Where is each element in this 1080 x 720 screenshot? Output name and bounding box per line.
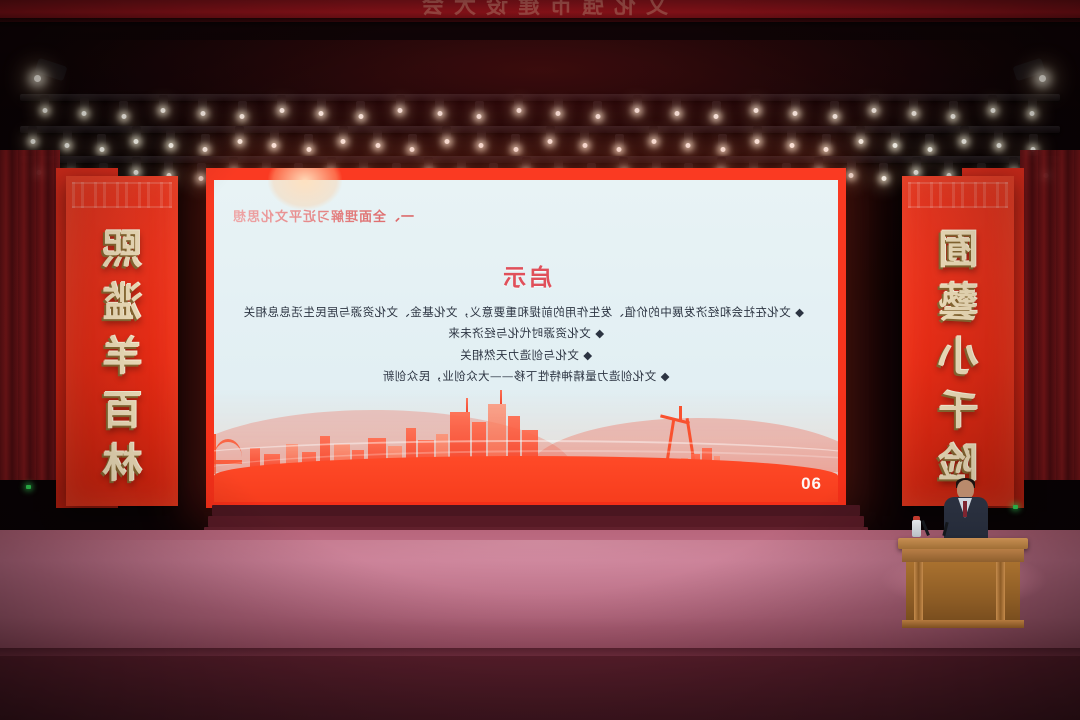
scroll-characters-left: 熙滥羊百林 bbox=[66, 216, 178, 498]
led-screen[interactable]: 一、全面理解习近平文化思想 启示 ◆ 文化在社会和经济发展中的价值、发生作用的前… bbox=[206, 168, 846, 508]
stage-light bbox=[270, 130, 279, 146]
stage-light-bulb-icon bbox=[279, 108, 284, 113]
stage-light bbox=[28, 126, 37, 142]
podium-trim-band bbox=[902, 549, 1024, 562]
stage-light bbox=[891, 130, 900, 146]
scroll-character: 小 bbox=[938, 337, 978, 377]
stage-light bbox=[317, 98, 326, 114]
stage-light bbox=[988, 95, 997, 111]
stage-light bbox=[63, 130, 72, 146]
scroll-fret-pattern bbox=[72, 182, 172, 208]
stage-light-bulb-icon bbox=[755, 139, 760, 144]
stage-light-bulb-icon bbox=[548, 139, 553, 144]
stage-light bbox=[166, 130, 175, 146]
scroll-character: 熙 bbox=[102, 230, 142, 270]
scroll-character: 林 bbox=[102, 444, 142, 484]
stage-light bbox=[994, 130, 1003, 146]
skyline-spire bbox=[500, 390, 502, 404]
stage-apron bbox=[0, 656, 1080, 720]
stage-light bbox=[847, 160, 856, 176]
stage-light bbox=[787, 130, 796, 146]
podium-area bbox=[898, 476, 1028, 636]
stage-light bbox=[80, 98, 89, 114]
calligraphy-scroll-left: 熙滥羊百林 bbox=[66, 176, 178, 506]
stage-light bbox=[949, 101, 958, 117]
slide-bullet-item: ◆ 文化创造力量精神特性下移——大众创业，民众创新 bbox=[248, 366, 804, 387]
overhead-banner-text: 文化强市建设大会 bbox=[412, 0, 668, 20]
stage-light bbox=[435, 98, 444, 114]
stage-photo-scene: 文化强市建设大会 熙滥羊百林 囿藝小千险 一、全面理解习近平文化思想 启示 ◆ … bbox=[0, 0, 1080, 720]
stage-light bbox=[132, 157, 141, 173]
slide-page-number: 06 bbox=[801, 474, 822, 494]
stage-light bbox=[40, 95, 49, 111]
calligraphy-scroll-right: 囿藝小千险 bbox=[902, 176, 1014, 506]
stage-light-bulb-icon bbox=[398, 108, 403, 113]
stage-light-bulb-icon bbox=[674, 111, 679, 116]
presenter-figure bbox=[940, 480, 990, 542]
stage-light bbox=[159, 95, 168, 111]
stage-light bbox=[277, 95, 286, 111]
stage-light-bulb-icon bbox=[437, 111, 442, 116]
presentation-slide: 一、全面理解习近平文化思想 启示 ◆ 文化在社会和经济发展中的价值、发生作用的前… bbox=[214, 180, 838, 502]
slide-bullet-item: ◆ 文化与创造力天然相关 bbox=[248, 345, 804, 366]
stage-light-bulb-icon bbox=[872, 108, 877, 113]
podium-pilaster bbox=[914, 562, 923, 620]
stage-light-bulb-icon bbox=[793, 111, 798, 116]
slide-bullet-item: ◆ 文化在社会和经济发展中的价值、发生作用的前提和重要意义，文化基金、文化资源与… bbox=[248, 302, 804, 323]
stage-light-bulb-icon bbox=[849, 173, 854, 178]
stage-light bbox=[672, 98, 681, 114]
stage-light bbox=[442, 126, 451, 142]
stage-light-bulb-icon bbox=[516, 108, 521, 113]
stage-light bbox=[593, 101, 602, 117]
stage-light bbox=[751, 95, 760, 111]
equipment-status-led bbox=[26, 485, 31, 489]
stage-light bbox=[791, 98, 800, 114]
stage-light-bulb-icon bbox=[1030, 111, 1035, 116]
stage-light-bulb-icon bbox=[753, 108, 758, 113]
stage-light bbox=[198, 98, 207, 114]
stage-light bbox=[712, 101, 721, 117]
stage-light bbox=[684, 130, 693, 146]
lighting-truss-row-2 bbox=[0, 118, 1080, 144]
stage-light-bulb-icon bbox=[556, 111, 561, 116]
water-bottle bbox=[912, 520, 921, 537]
stage-light bbox=[373, 130, 382, 146]
stage-light bbox=[870, 95, 879, 111]
slide-title: 启示 bbox=[214, 258, 838, 292]
stage-light-bulb-icon bbox=[881, 176, 886, 181]
banner-shadow bbox=[0, 18, 1080, 28]
stage-light-bulb-icon bbox=[82, 111, 87, 116]
stage-light bbox=[514, 95, 523, 111]
stage-light-bulb-icon bbox=[858, 139, 863, 144]
stage-light-bulb-icon bbox=[134, 170, 139, 175]
presenter-tie bbox=[963, 501, 967, 517]
stage-light-bulb-icon bbox=[341, 139, 346, 144]
stage-light bbox=[119, 101, 128, 117]
stage-light bbox=[830, 101, 839, 117]
stage-light-bulb-icon bbox=[651, 139, 656, 144]
spotlight-bulb-icon bbox=[1039, 75, 1046, 82]
slide-bottom-artwork: 06 bbox=[214, 390, 838, 502]
stage-light-bulb-icon bbox=[237, 139, 242, 144]
stage-light-bulb-icon bbox=[911, 111, 916, 116]
crane-mast bbox=[679, 406, 682, 420]
stage-light bbox=[856, 126, 865, 142]
stage-light bbox=[960, 126, 969, 142]
stage-light bbox=[197, 163, 206, 179]
stage-light bbox=[944, 160, 953, 176]
stage-light bbox=[238, 101, 247, 117]
stage-curtain-right bbox=[1020, 150, 1080, 480]
slide-bullet-item: ◆ 文化资源时代化与经济未来 bbox=[248, 323, 804, 344]
skyline-spire bbox=[466, 398, 468, 412]
scroll-character: 滥 bbox=[102, 283, 142, 323]
stage-light bbox=[554, 98, 563, 114]
scroll-fret-pattern bbox=[908, 182, 1008, 208]
step-tread bbox=[208, 516, 864, 527]
stage-light-bulb-icon bbox=[199, 176, 204, 181]
stage-light-bulb-icon bbox=[319, 111, 324, 116]
stage-light-bulb-icon bbox=[914, 170, 919, 175]
slide-kicker: 一、全面理解习近平文化思想 bbox=[232, 206, 414, 225]
stage-light bbox=[633, 95, 642, 111]
stage-light-bulb-icon bbox=[200, 111, 205, 116]
lighting-truss-row-1 bbox=[0, 86, 1080, 112]
stage-light bbox=[396, 95, 405, 111]
stage-light bbox=[580, 130, 589, 146]
podium-top-surface bbox=[898, 538, 1028, 549]
stage-light-bulb-icon bbox=[42, 108, 47, 113]
microphone-icon bbox=[921, 520, 930, 536]
stage-light bbox=[477, 130, 486, 146]
side-spotlight-right bbox=[1014, 62, 1058, 92]
slide-content-mirrored: 一、全面理解习近平文化思想 启示 ◆ 文化在社会和经济发展中的价值、发生作用的前… bbox=[214, 180, 838, 502]
stage-light bbox=[1028, 98, 1037, 114]
stage-light-bulb-icon bbox=[962, 139, 967, 144]
stage-light bbox=[546, 126, 555, 142]
scroll-characters-right: 囿藝小千险 bbox=[902, 216, 1014, 498]
stage-light bbox=[475, 101, 484, 117]
stage-light bbox=[235, 126, 244, 142]
scroll-character: 千 bbox=[938, 391, 978, 431]
slide-bullet-list: ◆ 文化在社会和经济发展中的价值、发生作用的前提和重要意义，文化基金、文化资源与… bbox=[248, 302, 804, 387]
stage-light bbox=[753, 126, 762, 142]
artwork-wave-stroke-2 bbox=[214, 450, 838, 490]
stage-light bbox=[132, 126, 141, 142]
stage-light-bulb-icon bbox=[990, 108, 995, 113]
stage-light bbox=[649, 126, 658, 142]
stage-light-bulb-icon bbox=[134, 139, 139, 144]
scroll-character: 囿 bbox=[938, 230, 978, 270]
stage-light-bulb-icon bbox=[30, 139, 35, 144]
scroll-character: 羊 bbox=[102, 337, 142, 377]
stage-light bbox=[912, 157, 921, 173]
stage-light-bulb-icon bbox=[444, 139, 449, 144]
podium-pilaster bbox=[996, 562, 1005, 620]
stage-light bbox=[879, 163, 888, 179]
stage-light bbox=[339, 126, 348, 142]
stage-curtain-left bbox=[0, 150, 60, 480]
stage-light bbox=[164, 160, 173, 176]
stage-light bbox=[356, 101, 365, 117]
stage-light bbox=[909, 98, 918, 114]
step-tread bbox=[212, 505, 860, 516]
stage-light-bulb-icon bbox=[635, 108, 640, 113]
scroll-character: 百 bbox=[102, 391, 142, 431]
spotlight-bulb-icon bbox=[34, 75, 41, 82]
podium-base bbox=[902, 620, 1024, 628]
stage-light-bulb-icon bbox=[161, 108, 166, 113]
scroll-character: 藝 bbox=[938, 283, 978, 323]
side-spotlight-left bbox=[22, 62, 66, 92]
